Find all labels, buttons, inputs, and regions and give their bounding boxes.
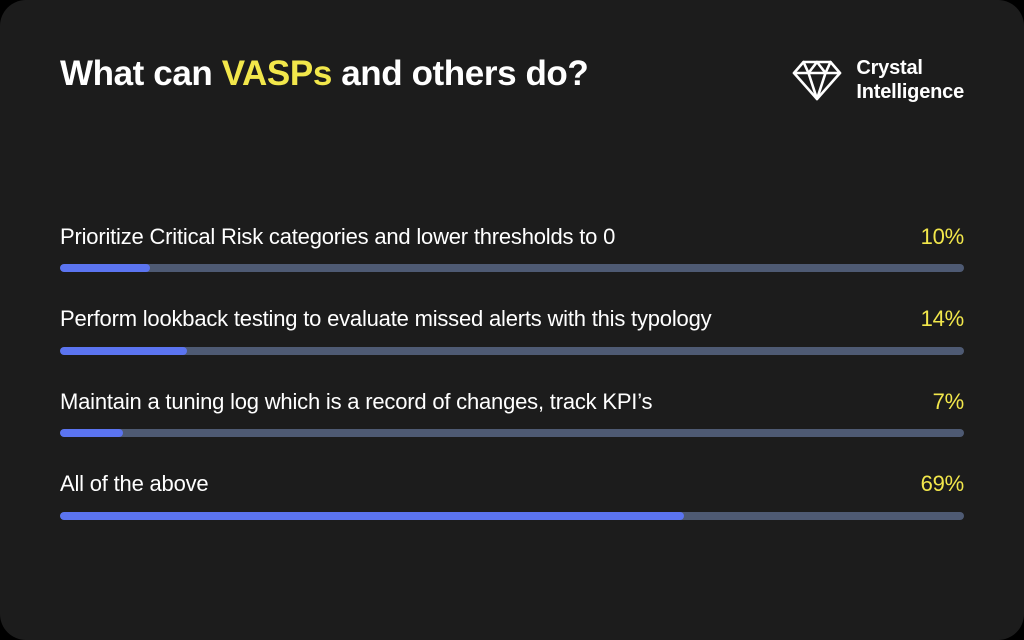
poll-progress-track — [60, 347, 964, 355]
poll-progress-track — [60, 264, 964, 272]
page-title-highlight: VASPs — [222, 54, 332, 93]
brand-name-line1: Crystal — [856, 56, 964, 80]
diamond-gem-icon — [791, 58, 843, 102]
page-title-prefix: What can — [60, 54, 222, 93]
poll-progress-fill — [60, 264, 150, 272]
poll-slide: What can VASPs and others do? Crystal In… — [0, 0, 1024, 640]
poll-progress-track — [60, 512, 964, 520]
poll-row-header: Maintain a tuning log which is a record … — [60, 389, 964, 415]
poll-row: Perform lookback testing to evaluate mis… — [60, 306, 964, 354]
brand-name: Crystal Intelligence — [856, 56, 964, 104]
poll-row-header: All of the above 69% — [60, 471, 964, 497]
brand-name-line2: Intelligence — [856, 80, 964, 104]
poll-option-percent: 10% — [921, 224, 964, 250]
poll-option-percent: 7% — [933, 389, 964, 415]
poll-option-label: Maintain a tuning log which is a record … — [60, 389, 652, 415]
poll-progress-track — [60, 429, 964, 437]
poll-row: All of the above 69% — [60, 471, 964, 519]
poll-results-list: Prioritize Critical Risk categories and … — [60, 224, 964, 520]
poll-progress-fill — [60, 429, 123, 437]
poll-row-header: Prioritize Critical Risk categories and … — [60, 224, 964, 250]
poll-progress-fill — [60, 512, 684, 520]
page-title-suffix: and others do? — [332, 54, 589, 93]
poll-option-label: Perform lookback testing to evaluate mis… — [60, 306, 711, 332]
poll-row-header: Perform lookback testing to evaluate mis… — [60, 306, 964, 332]
page-title: What can VASPs and others do? — [60, 54, 588, 94]
poll-progress-fill — [60, 347, 187, 355]
poll-row: Prioritize Critical Risk categories and … — [60, 224, 964, 272]
slide-header: What can VASPs and others do? Crystal In… — [60, 54, 964, 116]
poll-option-percent: 14% — [921, 306, 964, 332]
poll-option-percent: 69% — [921, 471, 964, 497]
poll-option-label: All of the above — [60, 471, 208, 497]
poll-row: Maintain a tuning log which is a record … — [60, 389, 964, 437]
poll-option-label: Prioritize Critical Risk categories and … — [60, 224, 615, 250]
brand-logo: Crystal Intelligence — [791, 56, 964, 104]
